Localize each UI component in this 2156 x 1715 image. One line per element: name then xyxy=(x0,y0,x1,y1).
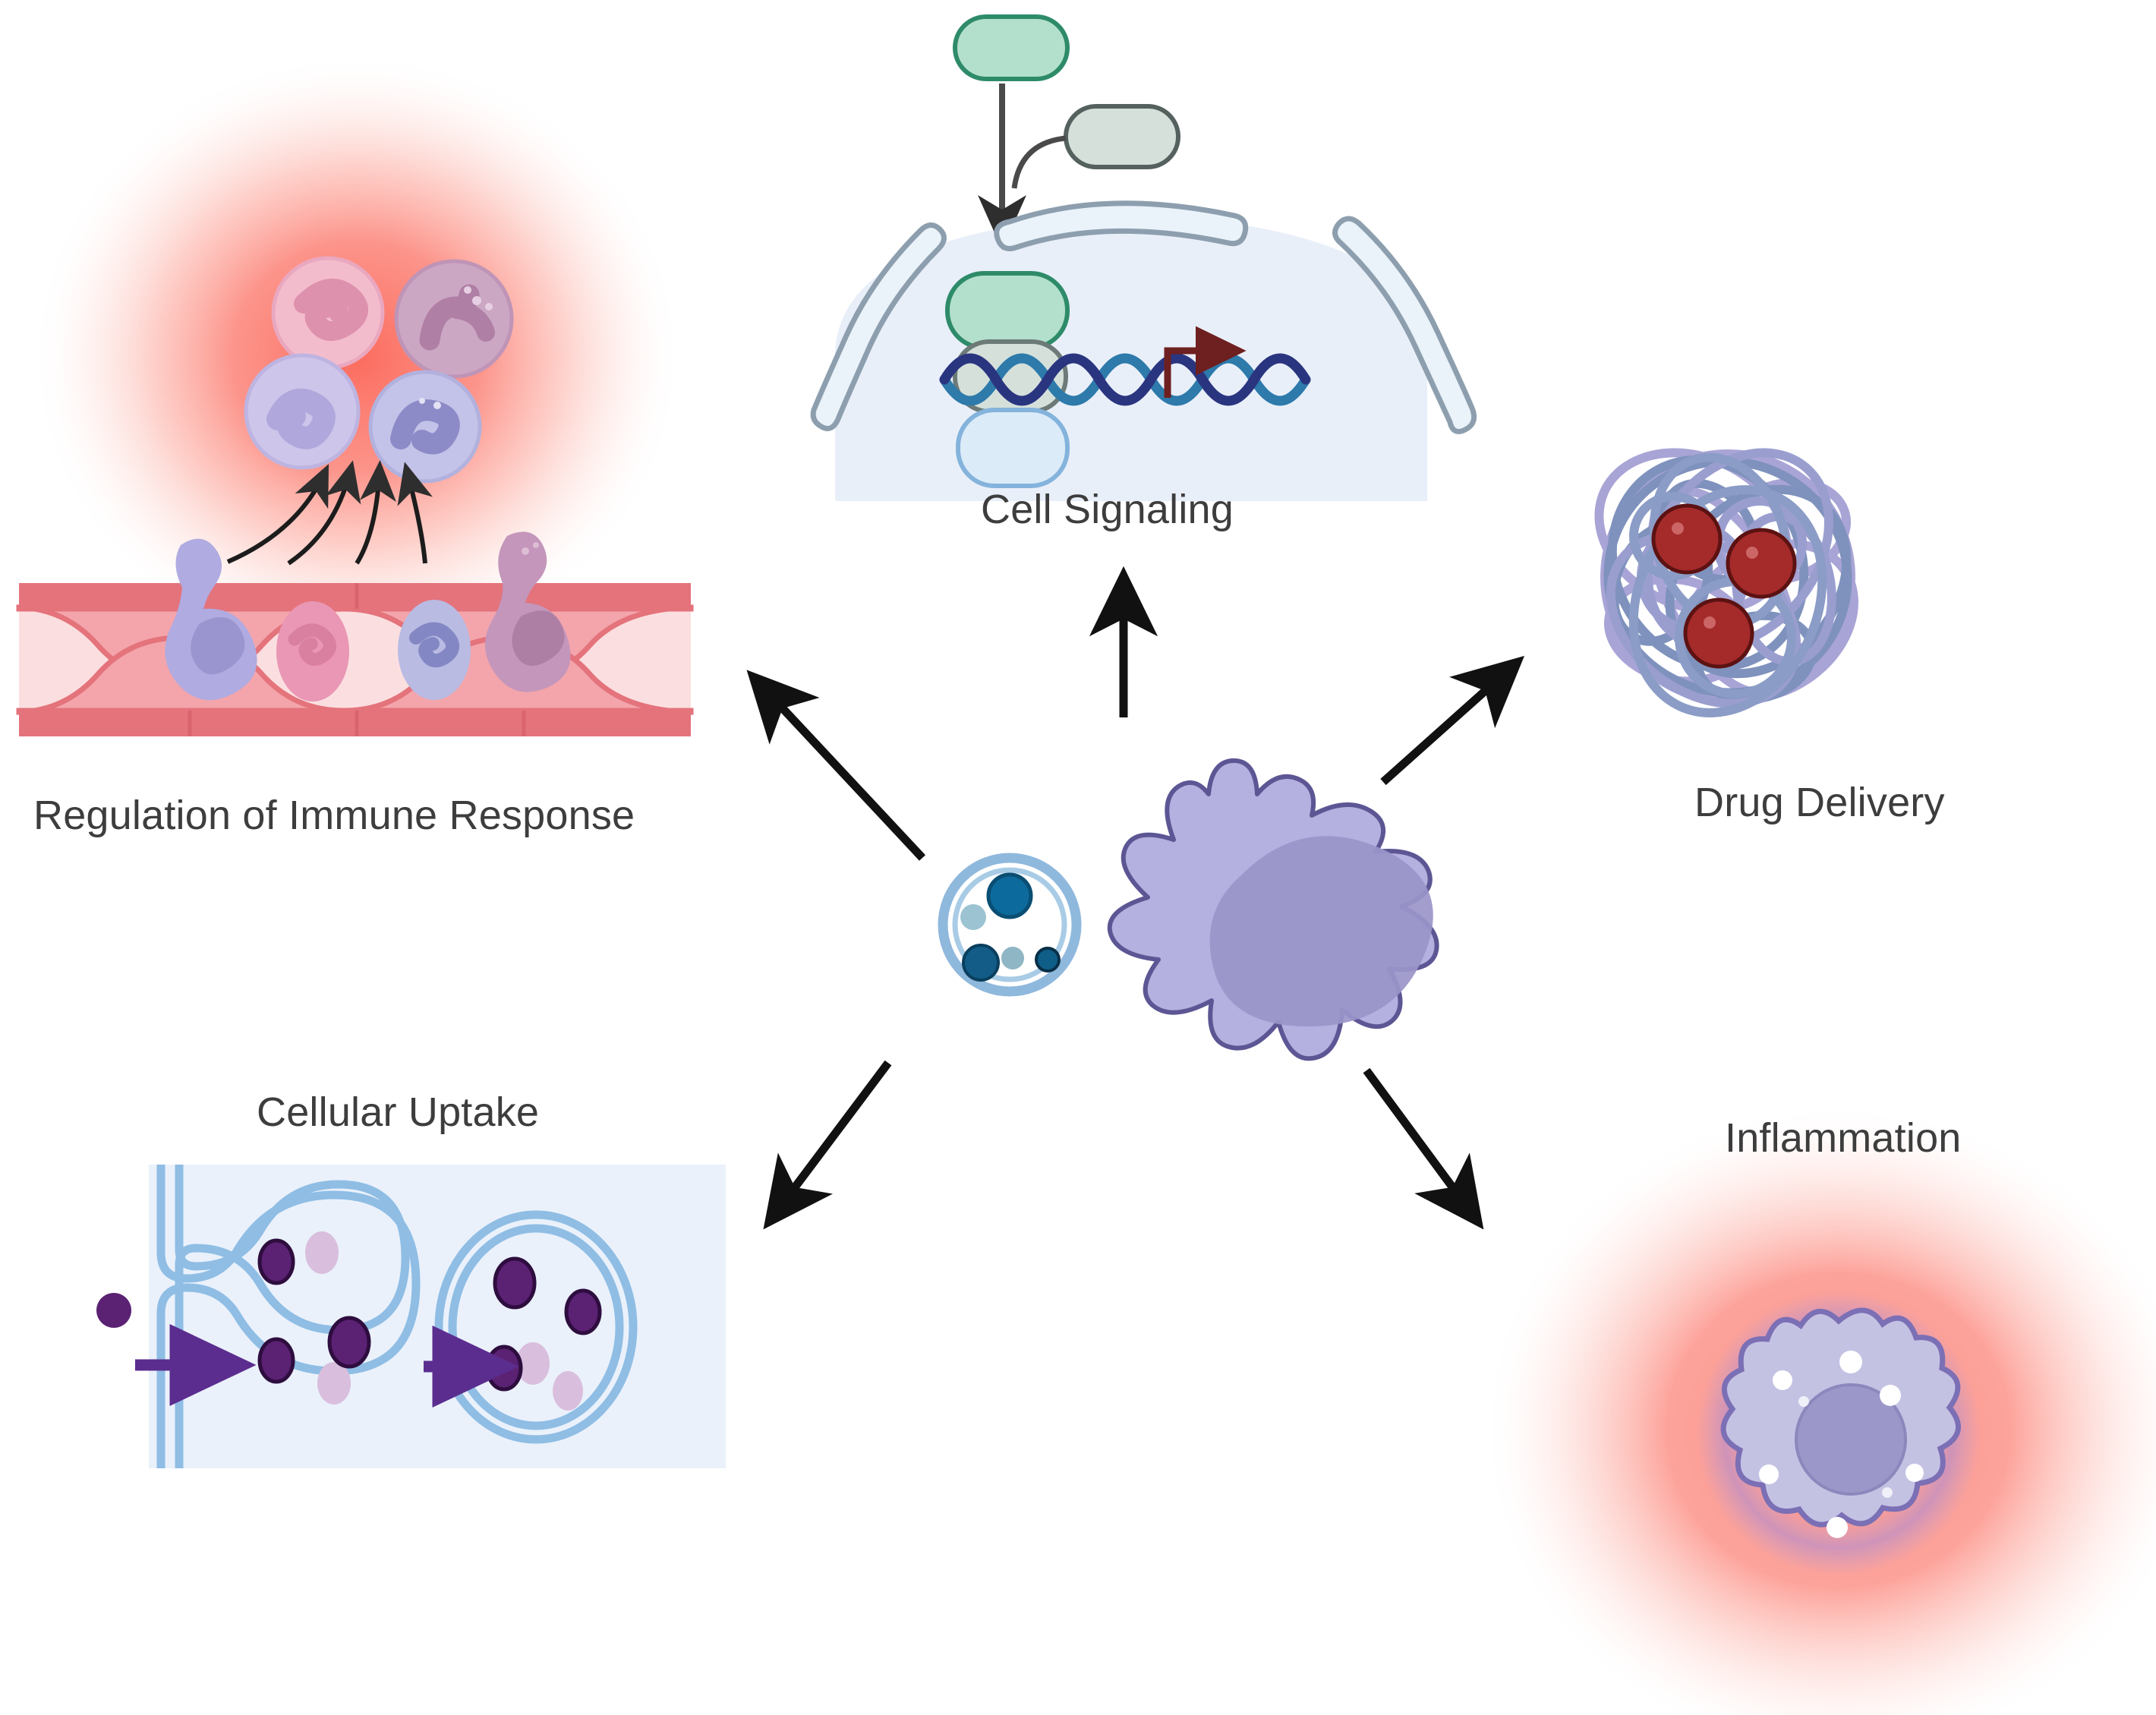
vessel-cell-pink xyxy=(276,601,349,701)
arrow-to-immune xyxy=(759,683,922,858)
bound-ligand xyxy=(947,273,1067,348)
center-hub xyxy=(943,761,1437,1058)
panel-inflammation xyxy=(1482,1104,2156,1715)
extracellular-particle xyxy=(96,1293,131,1328)
panel-immune-response xyxy=(19,53,698,736)
macrophage-cell xyxy=(1110,761,1437,1058)
drug-sphere xyxy=(1728,530,1795,597)
label-cellular-uptake: Cellular Uptake xyxy=(257,1089,539,1136)
drug-sphere xyxy=(1653,506,1720,572)
panel-cell-signaling xyxy=(813,17,1474,501)
arrow-to-drug xyxy=(1383,668,1511,782)
diagram-canvas: Regulation of Immune Response Cell Signa… xyxy=(0,0,2156,1715)
immune-cell-blue xyxy=(370,372,480,481)
label-immune-response: Regulation of Immune Response xyxy=(33,792,635,839)
arrow-to-inflam xyxy=(1366,1070,1473,1215)
exosome-vesicle xyxy=(943,858,1076,991)
label-inflammation: Inflammation xyxy=(1725,1114,1962,1162)
free-receptor-top xyxy=(1066,106,1178,167)
immune-cell-lilac xyxy=(246,355,358,468)
arrow-to-uptake xyxy=(774,1063,888,1215)
label-drug-delivery: Drug Delivery xyxy=(1694,779,1945,826)
drug-sphere xyxy=(1685,600,1752,667)
vessel-cell-blue xyxy=(398,600,471,700)
nucleus-box xyxy=(958,410,1067,486)
panel-cellular-uptake xyxy=(96,1165,726,1468)
label-cell-signaling: Cell Signaling xyxy=(981,486,1234,533)
diagram-svg xyxy=(0,0,2156,1715)
free-ligand-top xyxy=(955,17,1067,79)
immune-cell-mauve xyxy=(396,261,512,377)
ligand-binding-curve xyxy=(1014,138,1066,188)
immune-cell-pink xyxy=(273,258,383,367)
panel-drug-delivery xyxy=(1574,418,1883,743)
polymer-nanoparticle xyxy=(1574,418,1883,743)
